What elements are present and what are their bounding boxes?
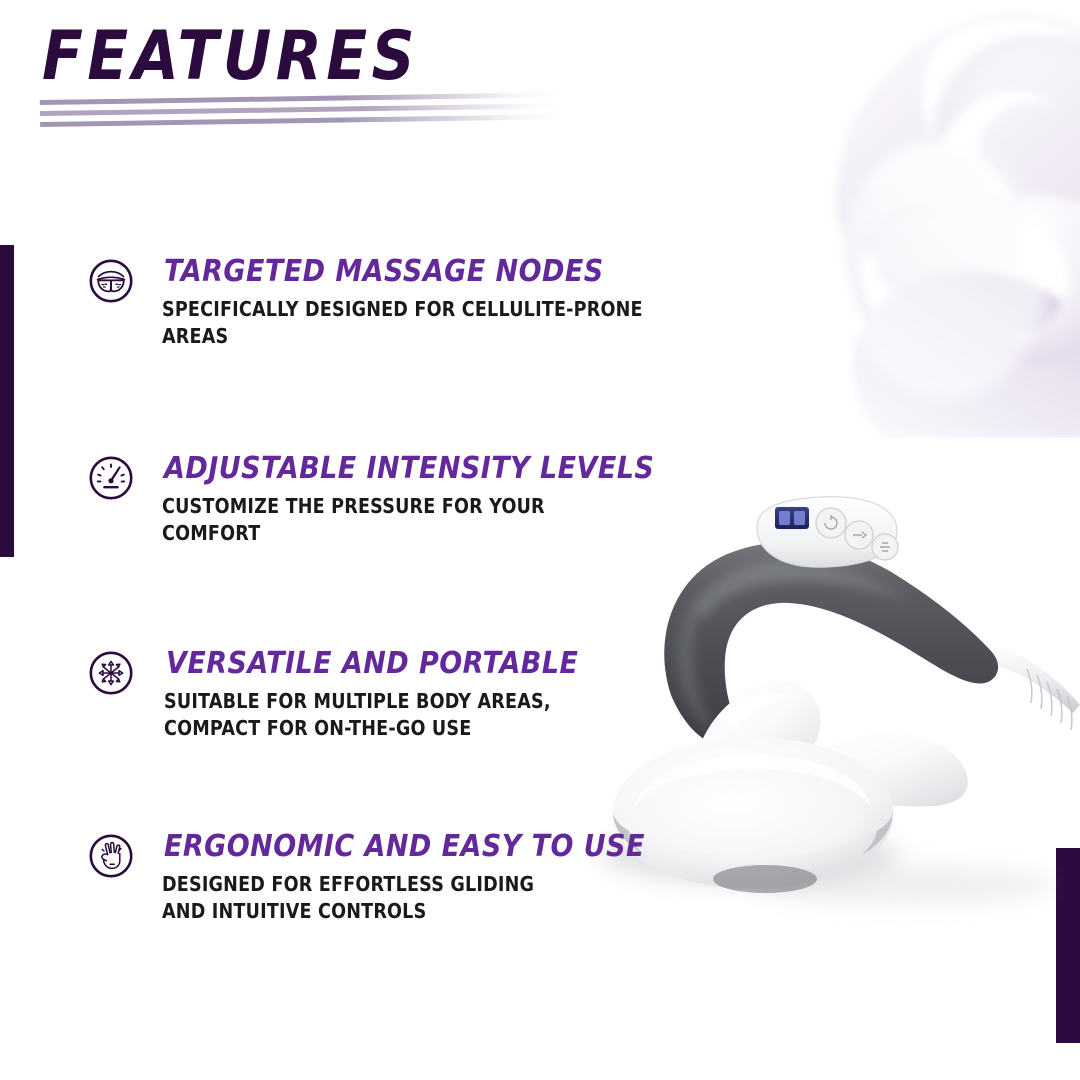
feature-texts: ADJUSTABLE INTENSITY LEVELS CUSTOMIZE TH… <box>164 451 709 547</box>
right-accent-bar <box>1056 848 1080 1043</box>
feature-poster: FEATURES <box>0 0 1080 1080</box>
feature-subtitle: CUSTOMIZE THE PRESSURE FOR YOUR COMFORT <box>162 493 643 547</box>
title-rule-3 <box>40 114 560 127</box>
multi-direction-arrows-icon <box>88 650 134 696</box>
abstract-ribbon-graphic <box>795 0 1080 438</box>
feature-subtitle: SUITABLE FOR MULTIPLE BODY AREAS, COMPAC… <box>164 688 645 742</box>
feature-heading: ADJUSTABLE INTENSITY LEVELS <box>164 451 655 487</box>
feature-heading: VERSATILE AND PORTABLE <box>166 646 657 682</box>
feature-subtitle: SPECIFICALLY DESIGNED FOR CELLULITE-PRON… <box>162 296 643 350</box>
hand-holding-icon <box>88 833 134 879</box>
feature-subtitle: DESIGNED FOR EFFORTLESS GLIDING AND INTU… <box>162 871 643 925</box>
feature-texts: VERSATILE AND PORTABLE SUITABLE FOR MULT… <box>166 646 711 742</box>
feature-heading: TARGETED MASSAGE NODES <box>164 254 655 290</box>
page-title: FEATURES <box>42 18 535 96</box>
body-hips-icon <box>88 258 134 304</box>
feature-heading: ERGONOMIC AND EASY TO USE <box>164 829 655 865</box>
gauge-icon <box>88 455 134 501</box>
title-block: FEATURES <box>42 18 602 96</box>
feature-texts: ERGONOMIC AND EASY TO USE DESIGNED FOR E… <box>164 829 709 925</box>
left-accent-bar <box>0 245 14 557</box>
feature-texts: TARGETED MASSAGE NODES SPECIFICALLY DESI… <box>164 254 709 350</box>
title-underline-rules <box>40 92 560 134</box>
title-rule-2 <box>40 103 560 116</box>
